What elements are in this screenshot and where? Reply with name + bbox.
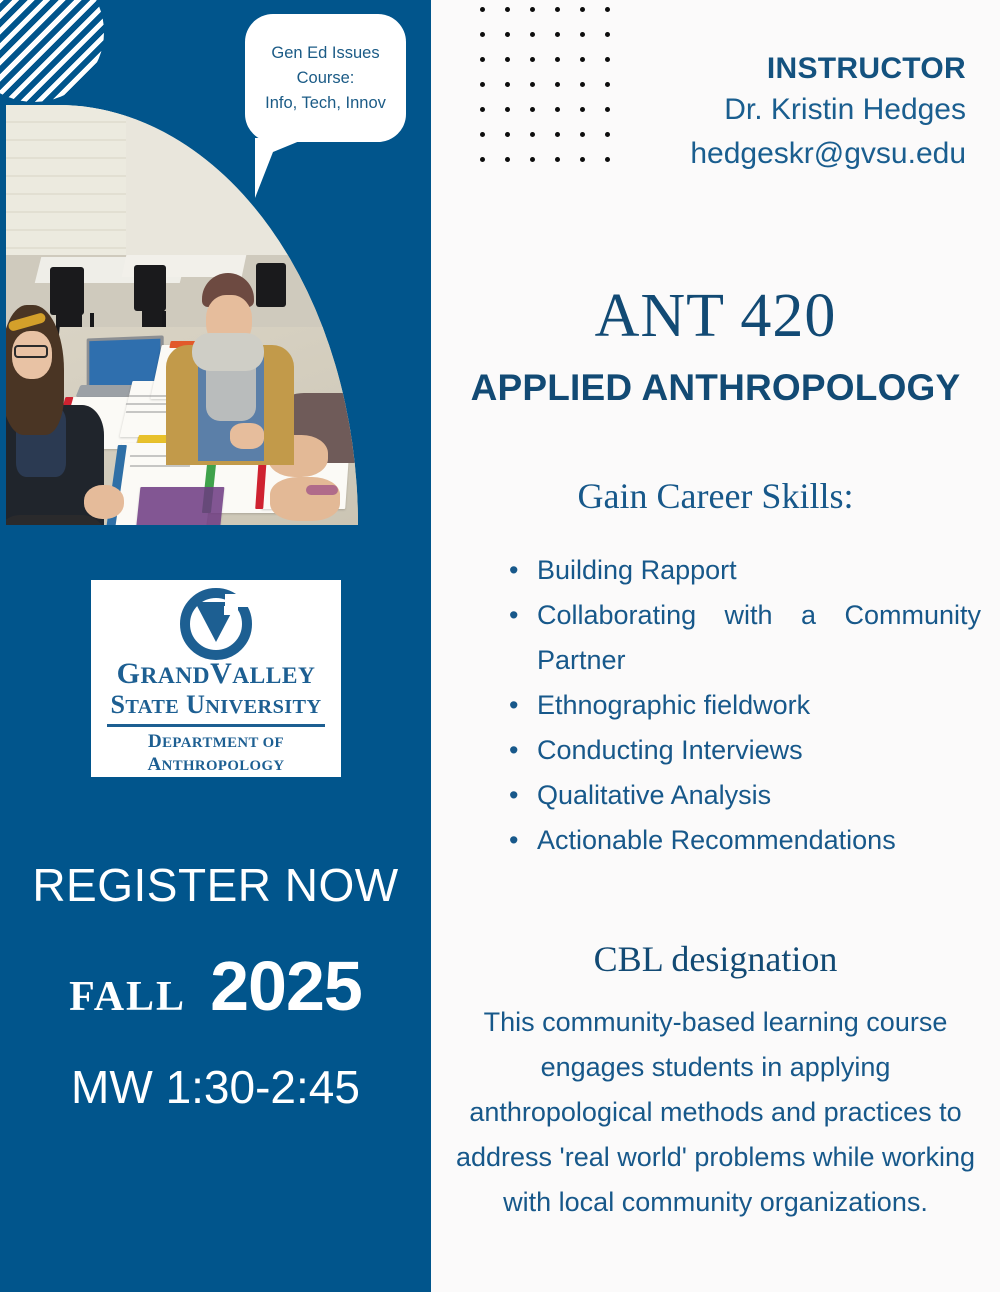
photo-chair	[50, 267, 84, 315]
register-now-heading: REGISTER NOW	[0, 858, 431, 912]
gvsu-g-logo-icon	[180, 588, 252, 657]
instructor-name: Dr. Kristin Hedges	[546, 88, 966, 132]
photo-person-right-hand-2	[270, 477, 340, 521]
photo-bracelet	[306, 485, 338, 495]
skills-heading: Gain Career Skills:	[431, 476, 1000, 516]
term-season: FALL	[69, 973, 186, 1021]
speech-bubble-tail	[255, 138, 307, 198]
photo-chair	[134, 265, 166, 311]
cbl-heading: CBL designation	[431, 938, 1000, 980]
striped-quarter-circle-decoration	[0, 0, 104, 102]
grid-dot	[480, 57, 485, 62]
grid-dot	[480, 107, 485, 112]
photo-text-line	[130, 465, 190, 467]
term-row: FALL 2025	[0, 946, 431, 1026]
term-year: 2025	[210, 946, 362, 1026]
photo-person-left-hand	[84, 485, 124, 519]
skill-list-item: Ethnographic fieldwork	[501, 683, 981, 728]
grid-dot	[480, 157, 485, 162]
grid-dot	[530, 57, 535, 62]
skill-list-item: Building Rapport	[501, 548, 981, 593]
grid-dot	[530, 82, 535, 87]
grid-dot	[480, 7, 485, 12]
photo-chair	[256, 263, 286, 307]
grid-dot	[555, 32, 560, 37]
grid-dot	[580, 7, 585, 12]
grid-dot	[605, 32, 610, 37]
skill-list-item: Conducting Interviews	[501, 728, 981, 773]
logo-department-line-1: DEPARTMENT OF	[148, 731, 284, 754]
grid-dot	[530, 32, 535, 37]
bubble-line-3: Info, Tech, Innov	[265, 91, 386, 116]
grid-dot	[505, 7, 510, 12]
instructor-email: hedgeskr@gvsu.edu	[546, 132, 966, 176]
skill-list-item: Actionable Recommendations	[501, 818, 981, 863]
grid-dot	[555, 7, 560, 12]
bubble-line-1: Gen Ed Issues	[271, 41, 379, 66]
logo-university-line-1: GRANDVALLEY	[117, 659, 316, 691]
grid-dot	[480, 82, 485, 87]
grid-dot	[480, 32, 485, 37]
bubble-line-2: Course:	[297, 66, 355, 91]
grid-dot	[530, 107, 535, 112]
grid-dot	[505, 132, 510, 137]
gen-ed-speech-bubble: Gen Ed Issues Course: Info, Tech, Innov	[245, 14, 406, 142]
course-title: APPLIED ANTHROPOLOGY	[431, 368, 1000, 408]
career-skills-list: Building RapportCollaborating with a Com…	[501, 548, 981, 863]
grid-dot	[480, 132, 485, 137]
logo-divider	[107, 724, 325, 727]
photo-brick-wall	[6, 105, 126, 255]
left-blue-panel: Gen Ed Issues Course: Info, Tech, Innov …	[0, 0, 431, 1292]
grid-dot	[605, 7, 610, 12]
logo-university-line-2: STATE UNIVERSITY	[111, 691, 322, 721]
photo-person-center-scarf	[192, 333, 264, 371]
photo-person-left-glasses	[14, 345, 48, 358]
logo-notch-inner	[224, 606, 238, 615]
logo-department-line-2: ANTHROPOLOGY	[147, 754, 284, 777]
grid-dot	[505, 57, 510, 62]
grid-dot	[505, 157, 510, 162]
photo-person-left-leg	[6, 515, 106, 525]
course-code: ANT 420	[431, 284, 1000, 348]
course-flyer: Gen Ed Issues Course: Info, Tech, Innov …	[0, 0, 1000, 1292]
instructor-block: INSTRUCTOR Dr. Kristin Hedges hedgeskr@g…	[546, 50, 966, 176]
right-content-panel: INSTRUCTOR Dr. Kristin Hedges hedgeskr@g…	[431, 0, 1000, 1292]
grid-dot	[505, 32, 510, 37]
gvsu-anthropology-logo: GRANDVALLEY STATE UNIVERSITY DEPARTMENT …	[91, 580, 341, 777]
instructor-label: INSTRUCTOR	[546, 50, 966, 88]
skill-list-item: Qualitative Analysis	[501, 773, 981, 818]
grid-dot	[580, 32, 585, 37]
meeting-time: MW 1:30-2:45	[0, 1060, 431, 1114]
grid-dot	[505, 107, 510, 112]
grid-dot	[530, 157, 535, 162]
photo-purple-block	[136, 487, 225, 525]
grid-dot	[505, 82, 510, 87]
grid-dot	[530, 7, 535, 12]
photo-person-center-hand	[230, 423, 264, 449]
skill-list-item: Collaborating with a Community Partner	[501, 593, 981, 683]
grid-dot	[530, 132, 535, 137]
cbl-description: This community-based learning course eng…	[449, 1000, 982, 1225]
